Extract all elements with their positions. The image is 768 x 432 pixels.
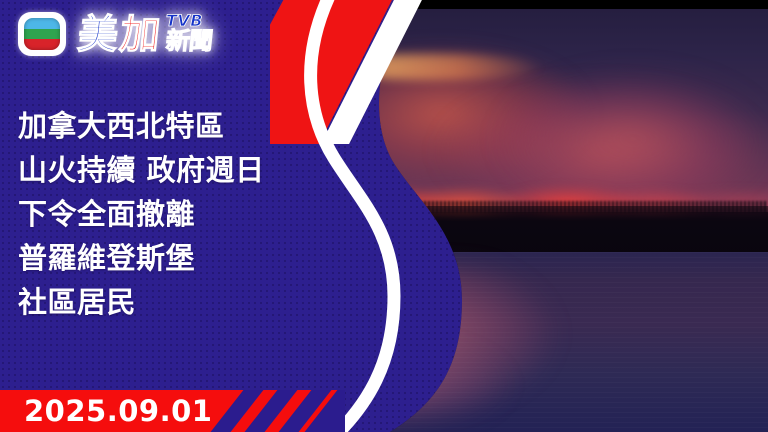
tvb-roundel-icon [18, 12, 66, 56]
headline-line-4: 普羅維登斯堡 [18, 236, 286, 280]
headline-line-2: 山火持續 政府週日 [18, 148, 286, 192]
headline-line-5: 社區居民 [18, 280, 286, 324]
wordmark: 美 加 TVB 新聞 [78, 13, 212, 54]
wordmark-stack: TVB 新聞 [166, 13, 212, 53]
wordmark-char-jia: 加 [118, 16, 161, 54]
date-banner-stripes [199, 390, 345, 432]
wordmark-char-mei: 美 [76, 16, 119, 54]
headline-line-1: 加拿大西北特區 [18, 104, 286, 148]
tvb-roundel-bands [24, 18, 60, 50]
date-text: 2025.09.01 [24, 394, 212, 428]
headline-line-3: 下令全面撤離 [18, 192, 286, 236]
channel-logo[interactable]: 美 加 TVB 新聞 [18, 12, 212, 56]
date-banner: 2025.09.01 [0, 390, 345, 432]
headline-block: 加拿大西北特區 山火持續 政府週日 下令全面撤離 普羅維登斯堡 社區居民 [18, 104, 286, 324]
news-thumbnail: 美 加 TVB 新聞 加拿大西北特區 山火持續 政府週日 下令全面撤離 普羅維登… [0, 0, 768, 432]
wordmark-news: 新聞 [165, 29, 214, 53]
